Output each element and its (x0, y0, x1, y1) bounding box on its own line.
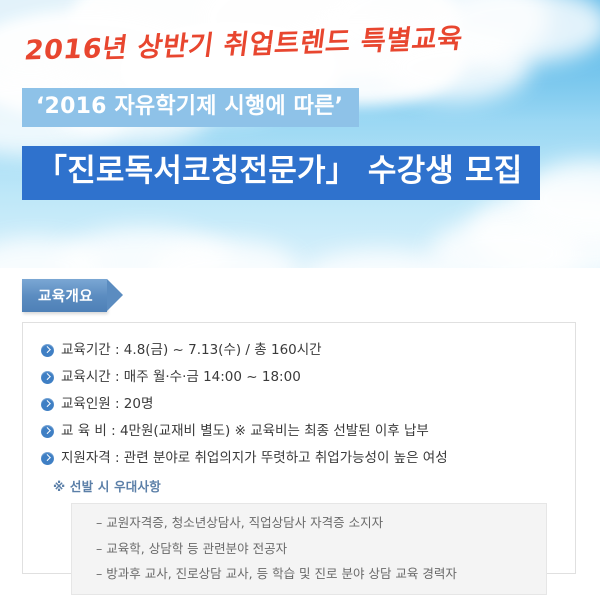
hero-subtitle-banner: ‘2016 자유학기제 시행에 따른’ (22, 88, 359, 127)
list-item-label: 교육기간 : 4.8(금) ~ 7.13(수) / 총 160시간 (61, 342, 322, 359)
section-tab-container: 교육개요 (22, 279, 107, 312)
preferential-box: –교원자격증, 청소년상담사, 직업상담사 자격증 소지자 –교육학, 상담학 … (71, 503, 547, 595)
list-item-label: 지원자격 : 관련 분야로 취업의지가 뚜렷하고 취업가능성이 높은 여성 (61, 450, 448, 467)
dash-bullet-icon: – (96, 541, 102, 556)
list-item: –교육학, 상담학 등 관련분야 전공자 (72, 541, 546, 557)
preferential-heading: ※ 선발 시 우대사항 (53, 476, 575, 495)
list-item-label: 교육학, 상담학 등 관련분야 전공자 (106, 541, 287, 556)
list-item-label: 교원자격증, 청소년상담사, 직업상담사 자격증 소지자 (106, 515, 383, 530)
list-item-label: 교 육 비 : 4만원(교재비 별도) ※ 교육비는 최종 선발된 이후 납부 (61, 423, 429, 440)
hero-banner: 2016년 상반기 취업트렌드 특별교육 ‘2016 자유학기제 시행에 따른’… (0, 0, 600, 268)
chevron-right-circle-icon (41, 371, 54, 384)
dash-bullet-icon: – (96, 515, 102, 530)
dash-bullet-icon: – (96, 566, 102, 581)
list-item: 교육인원 : 20명 (23, 396, 575, 413)
section-tab-label: 교육개요 (38, 285, 93, 306)
list-item-label: 교육인원 : 20명 (61, 396, 153, 413)
list-item: –방과후 교사, 진로상담 교사, 등 학습 및 진로 분야 상담 교육 경력자 (72, 566, 546, 582)
chevron-right-circle-icon (41, 398, 54, 411)
list-item: –교원자격증, 청소년상담사, 직업상담사 자격증 소지자 (72, 515, 546, 531)
overview-bullet-list: 교육기간 : 4.8(금) ~ 7.13(수) / 총 160시간 교육시간 :… (23, 323, 575, 466)
list-item-label: 교육시간 : 매주 월·수·금 14:00 ~ 18:00 (61, 369, 301, 386)
section-tab-overview: 교육개요 (22, 279, 107, 312)
list-item-label: 방과후 교사, 진로상담 교사, 등 학습 및 진로 분야 상담 교육 경력자 (106, 566, 457, 581)
list-item: 지원자격 : 관련 분야로 취업의지가 뚜렷하고 취업가능성이 높은 여성 (23, 450, 575, 467)
chevron-right-circle-icon (41, 452, 54, 465)
chevron-right-circle-icon (41, 425, 54, 438)
list-item: 교 육 비 : 4만원(교재비 별도) ※ 교육비는 최종 선발된 이후 납부 (23, 423, 575, 440)
overview-content-box: 교육기간 : 4.8(금) ~ 7.13(수) / 총 160시간 교육시간 :… (22, 322, 576, 574)
hero-title-banner: 「진로독서코칭전문가」 수강생 모집 (22, 146, 540, 200)
list-item: 교육시간 : 매주 월·수·금 14:00 ~ 18:00 (23, 369, 575, 386)
chevron-right-circle-icon (41, 344, 54, 357)
list-item: 교육기간 : 4.8(금) ~ 7.13(수) / 총 160시간 (23, 342, 575, 359)
